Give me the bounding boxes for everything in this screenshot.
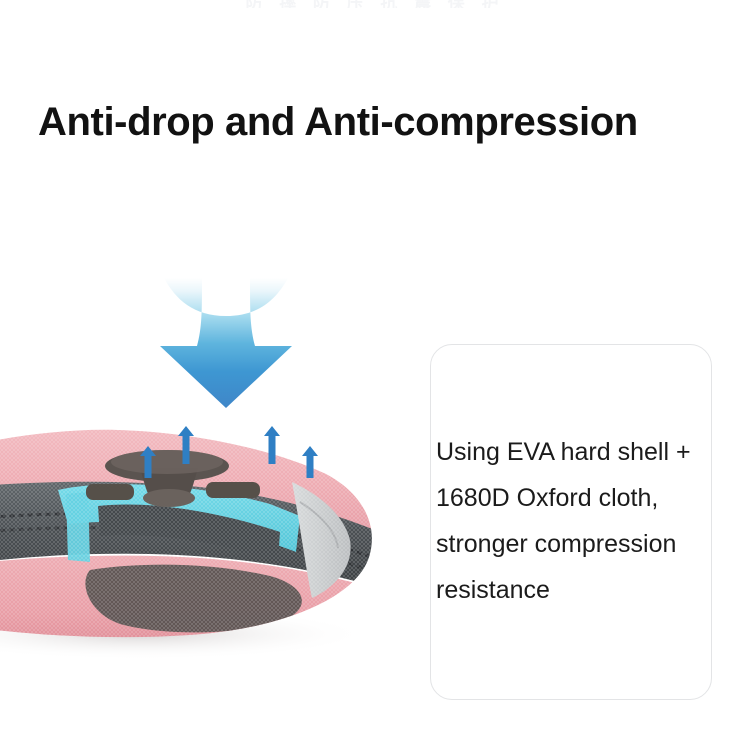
page-title: Anti-drop and Anti-compression	[38, 97, 738, 147]
description-text: Using EVA hard shell + 1680D Oxford clot…	[436, 429, 712, 613]
upward-resistance-arrows	[130, 424, 330, 490]
downward-pressure-arrow	[158, 276, 294, 410]
description-callout: Using EVA hard shell + 1680D Oxford clot…	[430, 344, 712, 700]
top-cut-text: 防 摔 防 压 抗 震 保 护	[0, 0, 750, 8]
product-feature-slide: 防 摔 防 压 抗 震 保 护 Anti-drop and Anti-compr…	[0, 0, 750, 750]
